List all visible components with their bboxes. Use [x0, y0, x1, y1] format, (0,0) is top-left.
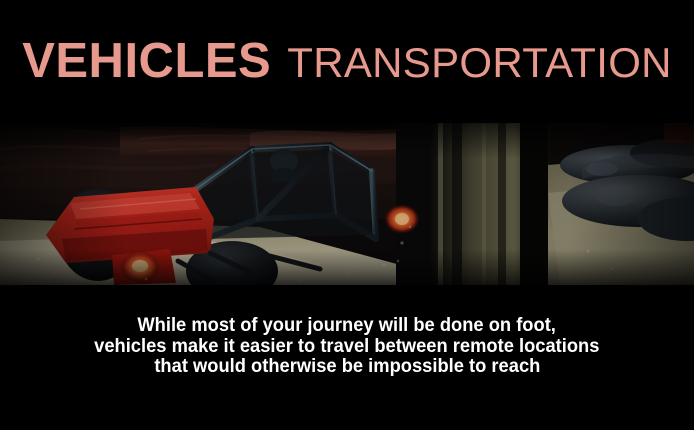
caption-line-1: While most of your journey will be done …	[138, 315, 557, 336]
vehicle-photo	[0, 123, 694, 285]
vehicles-transportation-card: VEHICLES TRANSPORTATION	[0, 0, 694, 430]
caption-line-3: that would otherwise be impossible to re…	[154, 356, 540, 377]
title-bar: VEHICLES TRANSPORTATION	[0, 0, 694, 123]
caption-block: While most of your journey will be done …	[0, 285, 694, 430]
vehicle-photo-illustration	[0, 123, 694, 285]
page-title-secondary: TRANSPORTATION	[287, 42, 672, 84]
page-title-primary: VEHICLES	[22, 37, 271, 86]
caption-line-2: vehicles make it easier to travel betwee…	[94, 336, 599, 357]
